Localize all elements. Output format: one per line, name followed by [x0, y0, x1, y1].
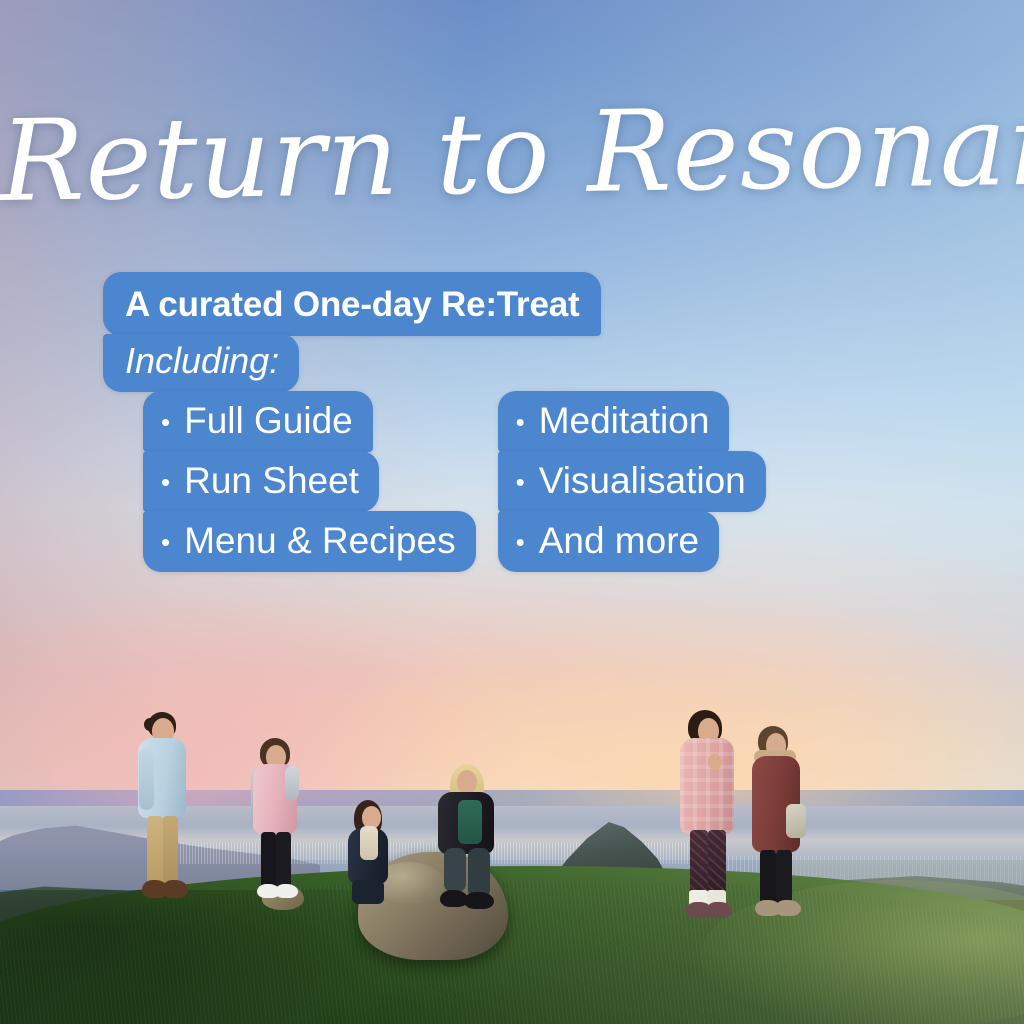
- bullet-columns: • Full Guide • Run Sheet • Menu & Recipe…: [143, 391, 913, 572]
- person-6: [742, 726, 812, 922]
- list-item: • Full Guide: [143, 391, 373, 452]
- list-item-label: Visualisation: [539, 460, 746, 502]
- list-item-label: Meditation: [539, 400, 710, 442]
- person-3-legs: [352, 880, 384, 904]
- person-4-leg-right: [468, 848, 490, 898]
- person-2-leg-left: [261, 832, 276, 888]
- person-4-shoe-right: [464, 892, 494, 909]
- person-2-sneaker-right: [275, 884, 298, 898]
- info-panel: A curated One-day Re:Treat Including: • …: [103, 272, 913, 572]
- person-2: [242, 738, 308, 906]
- grass-shadow: [0, 890, 380, 1024]
- headline-row: A curated One-day Re:Treat: [103, 272, 913, 336]
- list-item: • Meditation: [498, 391, 730, 452]
- person-4: [424, 764, 508, 914]
- person-6-shoe-right: [775, 900, 801, 916]
- left-column: • Full Guide • Run Sheet • Menu & Recipe…: [143, 391, 476, 572]
- person-5-hands: [708, 754, 722, 770]
- sunset-glow: [300, 600, 1024, 830]
- person-5-legging-left: [690, 830, 708, 896]
- list-item: • And more: [498, 511, 720, 572]
- person-1-boot-right: [162, 880, 188, 898]
- person-5: [672, 710, 746, 922]
- person-6-leg-left: [760, 850, 776, 906]
- including-label: Including:: [103, 334, 299, 392]
- bullet-icon: •: [516, 469, 525, 495]
- person-5-plaid-coat: [680, 738, 734, 834]
- list-item-label: And more: [539, 520, 699, 562]
- person-5-legging-right: [708, 830, 726, 896]
- person-2-sleeve-right: [285, 766, 299, 800]
- person-1-leg-left: [147, 816, 163, 884]
- including-row: Including:: [103, 336, 913, 392]
- person-3: [338, 800, 400, 910]
- bullet-icon: •: [161, 409, 170, 435]
- list-item: • Visualisation: [498, 451, 766, 512]
- list-item: • Run Sheet: [143, 451, 379, 512]
- headline-pill: A curated One-day Re:Treat: [103, 272, 601, 336]
- list-item: • Menu & Recipes: [143, 511, 476, 572]
- person-6-leg-right: [776, 850, 792, 906]
- poster-canvas: Return to Resonance A curated One-day Re…: [0, 0, 1024, 1024]
- person-2-leg-right: [276, 832, 291, 888]
- person-4-head: [457, 770, 477, 794]
- bullet-icon: •: [161, 529, 170, 555]
- person-6-bag: [786, 804, 806, 838]
- list-item-label: Run Sheet: [184, 460, 359, 502]
- person-5-shoe-right: [706, 902, 732, 918]
- person-1: [126, 712, 198, 904]
- bullet-icon: •: [161, 469, 170, 495]
- person-4-green-top: [458, 800, 482, 844]
- bullet-icon: •: [516, 409, 525, 435]
- poster-title: Return to Resonance: [0, 90, 1024, 218]
- person-1-leg-right: [163, 816, 178, 884]
- right-column: • Meditation • Visualisation • And more: [498, 391, 766, 572]
- list-item-label: Full Guide: [184, 400, 353, 442]
- list-item-label: Menu & Recipes: [184, 520, 455, 562]
- person-1-arm: [139, 748, 154, 810]
- person-3-scarf: [360, 826, 378, 860]
- bullet-icon: •: [516, 529, 525, 555]
- person-4-leg-left: [444, 848, 466, 892]
